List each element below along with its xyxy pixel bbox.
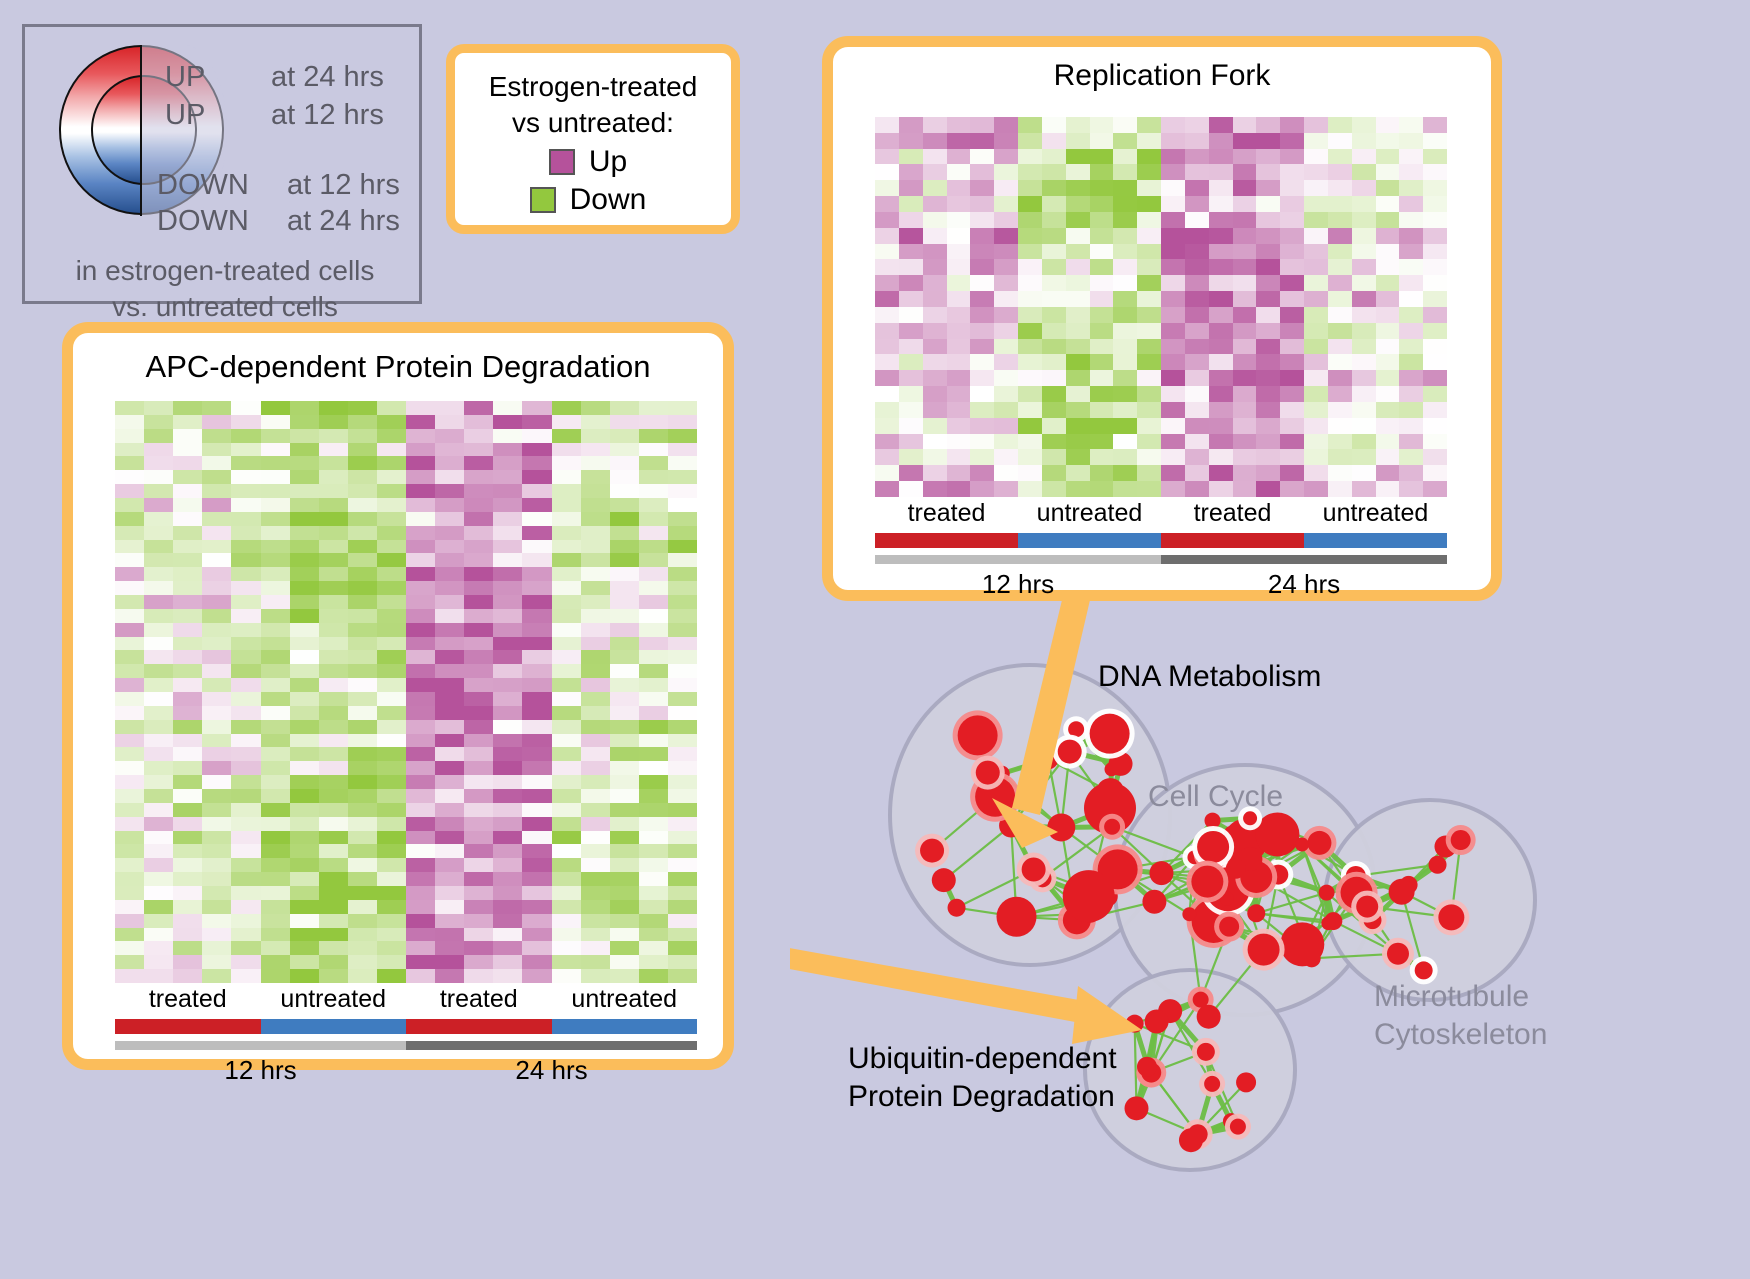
network-node <box>1204 1076 1220 1092</box>
network-node <box>1104 819 1120 835</box>
figure-canvas: UP at 24 hrs UP at 12 hrs DOWN at 12 hrs… <box>0 0 1750 1279</box>
network-node <box>1022 857 1046 881</box>
group-label: untreated <box>1018 499 1161 528</box>
panel-apc-degradation: APC-dependent Protein Degradation treate… <box>62 322 734 1070</box>
heatmap-replication-fork <box>875 117 1447 497</box>
down-label: Down <box>570 183 647 217</box>
treatment-bar-apc <box>115 1019 697 1034</box>
colorwheel-time-down-12: at 12 hrs <box>287 169 400 202</box>
network-node <box>1356 896 1378 918</box>
timepoint-segment <box>1161 555 1447 564</box>
group-label: untreated <box>261 985 407 1014</box>
panel-title-apc: APC-dependent Protein Degradation <box>73 349 723 385</box>
up-swatch-icon <box>549 149 575 175</box>
network-node <box>1230 1119 1246 1135</box>
treatment-segment <box>1018 533 1161 548</box>
colorwheel-label-down-24: DOWN <box>157 205 249 238</box>
network-node <box>1179 1128 1203 1152</box>
group-labels-replication: treateduntreatedtreateduntreated <box>875 499 1447 528</box>
pathway-network-graph <box>790 600 1750 1279</box>
timepoint-label: 12 hrs <box>875 569 1161 600</box>
network-node <box>996 897 1036 937</box>
colorwheel-caption-line2: vs. untreated cells <box>25 289 425 325</box>
updown-legend-card: Estrogen-treated vs untreated: Up Down <box>446 44 740 234</box>
cluster-label-microtubule: Microtubule Cytoskeleton <box>1374 978 1547 1054</box>
timepoint-segment <box>115 1041 406 1050</box>
network-node <box>1219 917 1239 937</box>
treatment-segment <box>261 1019 407 1034</box>
network-node <box>1438 904 1464 930</box>
colorwheel-label-up-12: UP <box>165 99 205 132</box>
network-node <box>1236 1072 1256 1092</box>
network-node <box>1429 856 1447 874</box>
updown-legend-title: Estrogen-treated vs untreated: <box>489 69 698 141</box>
colorwheel-label-down-12: DOWN <box>157 169 249 202</box>
legend-item-down: Down <box>530 183 647 217</box>
panel-title-replication-fork: Replication Fork <box>833 59 1491 93</box>
network-node <box>1142 890 1166 914</box>
network-node <box>1197 1005 1221 1029</box>
timepoint-label: 12 hrs <box>115 1055 406 1086</box>
network-node <box>1063 870 1115 922</box>
expression-colorwheel-legend: UP at 24 hrs UP at 12 hrs DOWN at 12 hrs… <box>22 24 422 304</box>
network-node <box>976 761 1000 785</box>
cluster-label-dna-metabolism: DNA Metabolism <box>1098 660 1321 694</box>
timepoint-bar-apc <box>115 1041 697 1050</box>
network-node <box>1321 916 1335 930</box>
network-node <box>1226 859 1246 879</box>
colorwheel-time-down-24: at 24 hrs <box>287 205 400 238</box>
treatment-segment <box>1161 533 1304 548</box>
timepoint-label: 24 hrs <box>1161 569 1447 600</box>
network-node <box>1197 831 1229 863</box>
group-label: treated <box>406 985 552 1014</box>
network-node <box>1197 1043 1215 1061</box>
down-swatch-icon <box>530 187 556 213</box>
network-node <box>1047 813 1075 841</box>
group-label: treated <box>1161 499 1304 528</box>
network-node <box>1191 866 1223 898</box>
network-node <box>932 868 956 892</box>
network-node <box>1125 1096 1149 1120</box>
timepoint-bar-replication <box>875 555 1447 564</box>
group-label: untreated <box>552 985 698 1014</box>
network-node <box>1319 885 1335 901</box>
colorwheel-caption-line1: in estrogen-treated cells <box>25 253 425 289</box>
colorwheel-caption: in estrogen-treated cells vs. untreated … <box>25 253 425 325</box>
colorwheel-time-up-24: at 24 hrs <box>271 61 384 94</box>
network-node <box>1182 907 1196 921</box>
network-node <box>1415 961 1433 979</box>
network-node <box>1280 922 1324 966</box>
network-node <box>1137 1057 1157 1077</box>
network-node <box>1248 934 1280 966</box>
network-node <box>1387 943 1409 965</box>
colorwheel-label-up-24: UP <box>165 61 205 94</box>
timepoint-segment <box>406 1041 697 1050</box>
panel-replication-fork: Replication Fork treateduntreatedtreated… <box>822 36 1502 601</box>
timepoint-label: 24 hrs <box>406 1055 697 1086</box>
up-label: Up <box>589 145 627 179</box>
network-node <box>920 839 944 863</box>
updown-title-line1: Estrogen-treated <box>489 69 698 105</box>
network-node <box>1295 838 1309 852</box>
network-node <box>1145 1010 1169 1034</box>
treatment-bar-replication <box>875 533 1447 548</box>
group-label: treated <box>115 985 261 1014</box>
colorwheel-time-up-12: at 12 hrs <box>271 99 384 132</box>
network-node <box>958 715 998 755</box>
timepoint-segment <box>875 555 1161 564</box>
group-labels-apc: treateduntreatedtreateduntreated <box>115 985 697 1014</box>
group-label: untreated <box>1304 499 1447 528</box>
timepoint-labels-apc: 12 hrs24 hrs <box>115 1055 697 1086</box>
treatment-segment <box>552 1019 698 1034</box>
network-node <box>1451 830 1471 850</box>
network-node <box>948 899 966 917</box>
cluster-label-ubiquitin: Ubiquitin-dependent Protein Degradation <box>848 1040 1117 1116</box>
colorwheel-divider <box>140 45 142 216</box>
treatment-segment <box>115 1019 261 1034</box>
cluster-label-cell-cycle: Cell Cycle <box>1148 780 1283 814</box>
network-node <box>1247 904 1265 922</box>
treatment-segment <box>875 533 1018 548</box>
network-node <box>1307 831 1331 855</box>
network-node <box>1090 714 1130 754</box>
network-node <box>1149 861 1173 885</box>
group-label: treated <box>875 499 1018 528</box>
updown-title-line2: vs untreated: <box>489 105 698 141</box>
treatment-segment <box>406 1019 552 1034</box>
heatmap-apc <box>115 401 697 983</box>
legend-item-up: Up <box>549 145 627 179</box>
network-node <box>1058 740 1082 764</box>
network-node <box>1389 879 1415 905</box>
treatment-segment <box>1304 533 1447 548</box>
timepoint-labels-replication: 12 hrs24 hrs <box>875 569 1447 600</box>
